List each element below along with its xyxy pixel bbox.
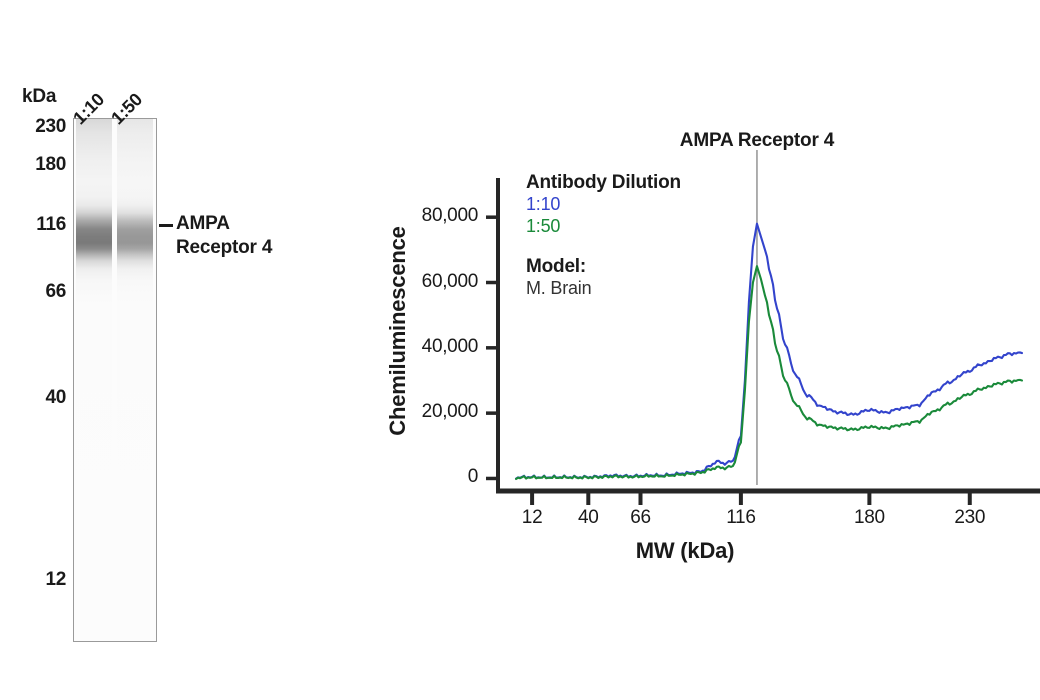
blot-lane-1-10 [76, 119, 112, 641]
blot-lane-1-50 [117, 119, 153, 641]
x-tick-label-12: 12 [522, 507, 543, 529]
x-tick-label-180: 180 [854, 507, 885, 529]
x-tick-label-230: 230 [954, 507, 985, 529]
lane-1-signal [76, 119, 112, 641]
series-line-1-50 [516, 266, 1022, 479]
x-tick-label-116: 116 [726, 507, 755, 529]
y-tick-label-0: 0 [392, 466, 478, 488]
mw-marker-ladder: 230180116664012 [0, 0, 66, 700]
x-tick-label-40: 40 [578, 507, 599, 529]
series-line-1-10 [516, 224, 1022, 479]
western-blot-panel: kDa 230180116664012 AMPA Receptor 4 1:10… [0, 0, 330, 700]
band-label-line-1: AMPA [176, 212, 272, 236]
y-tick-label-60000: 60,000 [392, 271, 478, 293]
blot-membrane [73, 118, 157, 642]
band-label: AMPA Receptor 4 [176, 212, 272, 260]
mw-marker-116: 116 [18, 214, 66, 236]
y-tick-label-40000: 40,000 [392, 336, 478, 358]
densitometry-chart-panel: Chemiluminescence MW (kDa) AMPA Receptor… [330, 0, 1040, 700]
figure-root: kDa 230180116664012 AMPA Receptor 4 1:10… [0, 0, 1040, 700]
mw-marker-180: 180 [18, 154, 66, 176]
lane-2-signal [117, 119, 153, 641]
mw-marker-230: 230 [18, 116, 66, 138]
band-pointer-dash [159, 224, 173, 227]
mw-marker-66: 66 [18, 281, 66, 303]
y-tick-label-20000: 20,000 [392, 401, 478, 423]
mw-marker-12: 12 [18, 569, 66, 591]
y-tick-label-80000: 80,000 [392, 205, 478, 227]
band-label-line-2: Receptor 4 [176, 236, 272, 260]
x-tick-label-66: 66 [630, 507, 651, 529]
mw-marker-40: 40 [18, 387, 66, 409]
